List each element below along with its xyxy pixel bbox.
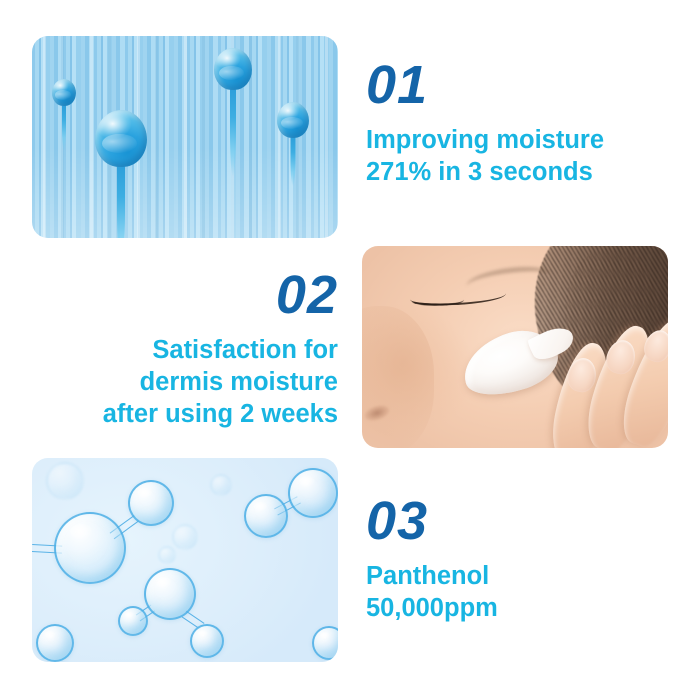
water-drop-tail — [230, 85, 236, 177]
molecule-bubble — [128, 480, 174, 526]
benefit-headline-01-line-1: Improving moisture — [366, 124, 666, 156]
water-droplets-image — [32, 36, 338, 238]
benefit-headline-02-line-3: after using 2 weeks — [30, 398, 338, 430]
molecule-bubble — [144, 568, 196, 620]
benefit-block-03: 03 Panthenol 50,000ppm — [366, 494, 666, 624]
water-drop-tail — [117, 160, 125, 238]
benefit-headline-01-line-2: 271% in 3 seconds — [366, 156, 666, 188]
benefit-headline-03-line-2: 50,000ppm — [366, 592, 666, 624]
step-number-02: 02 — [30, 268, 338, 322]
water-drop-upper-right — [214, 48, 252, 90]
background-bubble — [210, 474, 232, 496]
molecule-bubble-corner — [36, 624, 74, 662]
molecule-bubble — [288, 468, 338, 518]
benefit-headline-02-line-2: dermis moisture — [30, 366, 338, 398]
benefit-block-02: 02 Satisfaction for dermis moisture afte… — [30, 268, 338, 430]
molecule-bubbles-image — [32, 458, 338, 662]
water-drop-large — [95, 110, 147, 167]
water-drop-small-left — [52, 79, 76, 106]
water-drop-bulb — [52, 79, 76, 106]
molecule-bubble-large — [54, 512, 126, 584]
closed-eye — [410, 288, 506, 305]
water-drop-bulb — [214, 48, 252, 90]
infographic-page: 01 Improving moisture 271% in 3 seconds … — [0, 0, 700, 700]
nose-shadow — [362, 306, 434, 448]
step-number-01: 01 — [366, 58, 666, 112]
water-drop-tail — [291, 134, 296, 186]
molecule-bubble — [190, 624, 224, 658]
water-drop-tail — [62, 103, 66, 151]
molecule-bubble-corner — [312, 626, 338, 660]
benefit-block-01: 01 Improving moisture 271% in 3 seconds — [366, 58, 666, 188]
benefit-headline-03-line-1: Panthenol — [366, 560, 666, 592]
background-bubble — [46, 462, 84, 500]
eyelashes — [412, 294, 465, 308]
step-number-03: 03 — [366, 494, 666, 548]
water-drop-bulb — [277, 102, 309, 138]
water-drop-bulb — [95, 110, 147, 167]
molecule-bubble-small — [118, 606, 148, 636]
benefit-headline-02-line-1: Satisfaction for — [30, 334, 338, 366]
molecule-bubble — [244, 494, 288, 538]
face-cream-image — [362, 246, 668, 448]
water-drop-right — [277, 102, 309, 138]
background-bubble — [158, 546, 176, 564]
background-bubble — [172, 524, 198, 550]
